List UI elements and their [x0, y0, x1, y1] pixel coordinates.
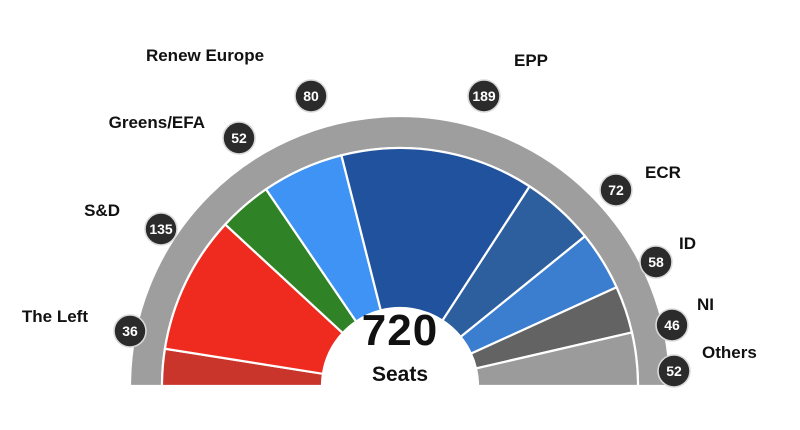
seat-badge-greens-efa[interactable]: 52 [223, 122, 255, 154]
seat-badge-s-d[interactable]: 135 [145, 213, 177, 245]
seat-badge-ni[interactable]: 46 [656, 309, 688, 341]
seat-badge-the-left[interactable]: 36 [114, 315, 146, 347]
group-label-ni: NI [697, 295, 714, 314]
total-seats-caption: Seats [372, 363, 428, 386]
badge-value-s-d: 135 [149, 221, 173, 237]
badge-value-id: 58 [648, 254, 664, 270]
badge-value-renew-europe: 80 [303, 88, 319, 104]
badge-value-others: 52 [666, 363, 682, 379]
group-label-renew-europe: Renew Europe [146, 46, 264, 65]
badge-value-epp: 189 [472, 88, 496, 104]
badge-value-greens-efa: 52 [231, 130, 247, 146]
seat-badge-renew-europe[interactable]: 80 [295, 80, 327, 112]
group-label-id: ID [679, 234, 696, 253]
badge-value-the-left: 36 [122, 323, 138, 339]
seat-badge-epp[interactable]: 189 [468, 80, 500, 112]
group-label-ecr: ECR [645, 163, 681, 182]
badge-value-ni: 46 [664, 317, 680, 333]
seat-distribution-svg: The Left: 36S&D: 135Greens/EFA: 52Renew … [0, 0, 800, 430]
group-label-the-left: The Left [22, 307, 88, 326]
group-label-greens-efa: Greens/EFA [109, 113, 205, 132]
group-label-others: Others [702, 343, 757, 362]
group-label-s-d: S&D [84, 201, 120, 220]
hemicycle-chart: The Left: 36S&D: 135Greens/EFA: 52Renew … [0, 0, 800, 430]
seat-badge-ecr[interactable]: 72 [600, 174, 632, 206]
group-label-epp: EPP [514, 51, 548, 70]
total-seats-number: 720 [362, 306, 438, 355]
badge-value-ecr: 72 [608, 182, 624, 198]
seat-badge-others[interactable]: 52 [658, 355, 690, 387]
seat-badge-id[interactable]: 58 [640, 246, 672, 278]
